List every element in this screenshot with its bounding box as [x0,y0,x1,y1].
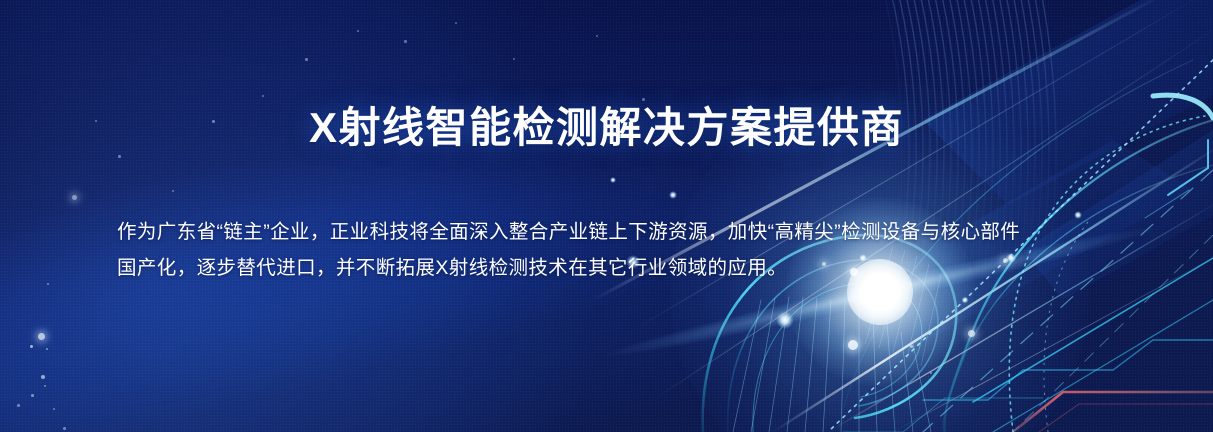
description-line-1: 作为广东省“链主”企业，正业科技将全面深入整合产业链上下游资源，加快“高精尖”检… [117,214,1097,250]
hero-banner: X射线智能检测解决方案提供商 作为广东省“链主”企业，正业科技将全面深入整合产业… [0,0,1213,432]
banner-content: X射线智能检测解决方案提供商 作为广东省“链主”企业，正业科技将全面深入整合产业… [0,0,1213,432]
page-title: X射线智能检测解决方案提供商 [0,104,1213,152]
description-line-2: 国产化，逐步替代进口，并不断拓展X射线检测技术在其它行业领域的应用。 [117,250,1097,286]
banner-description: 作为广东省“链主”企业，正业科技将全面深入整合产业链上下游资源，加快“高精尖”检… [117,214,1097,286]
